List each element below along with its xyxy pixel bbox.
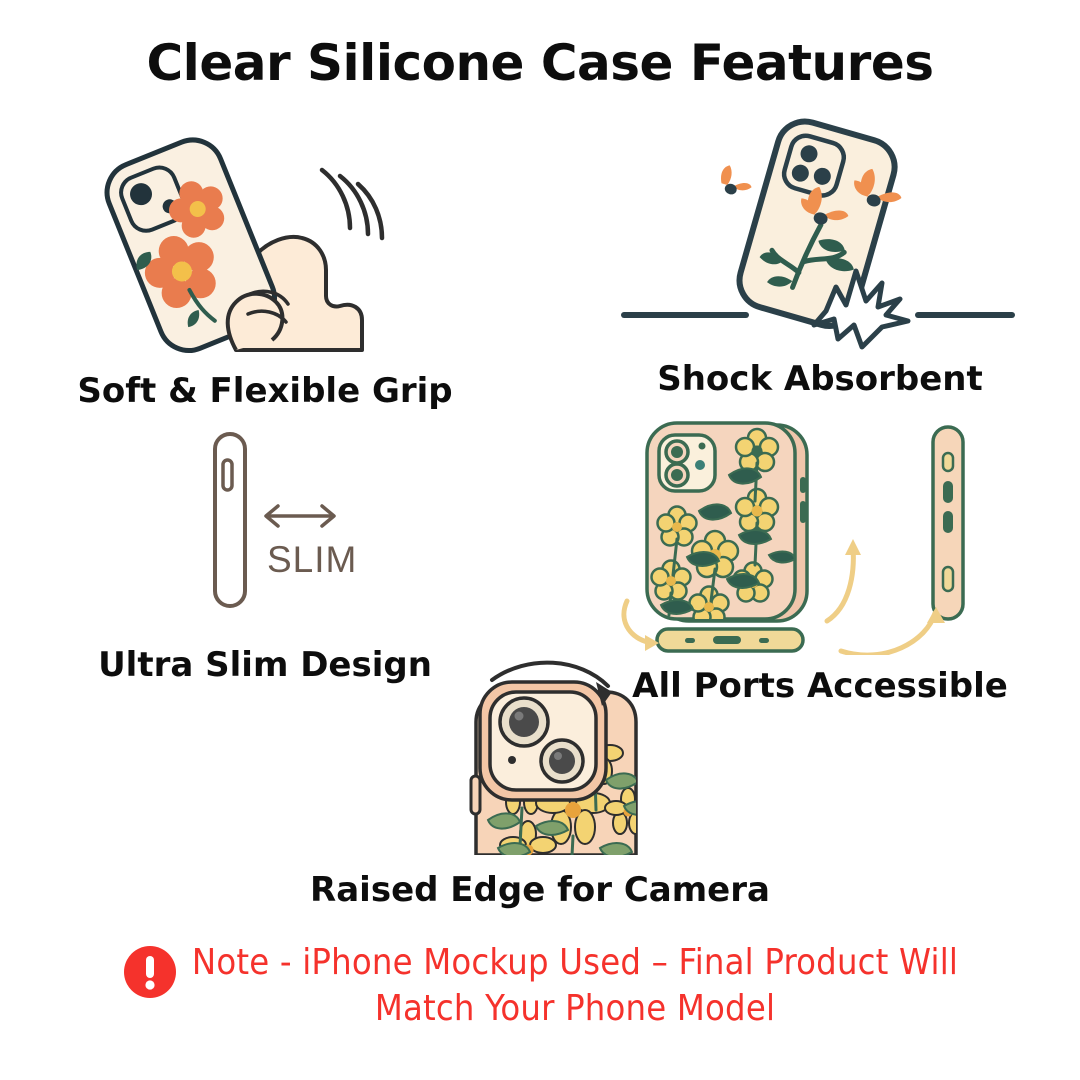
feature-soft-flexible-grip: Soft & Flexible Grip — [40, 118, 490, 411]
phone-back-side-bottom-ports-icon — [605, 415, 1035, 660]
note-banner: Note - iPhone Mockup Used – Final Produc… — [0, 940, 1080, 1032]
feature-caption: Raised Edge for Camera — [290, 870, 790, 910]
note-line-1: Note - iPhone Mockup Used – Final Produc… — [192, 940, 958, 986]
infographic-page: Clear Silicone Case Features — [0, 0, 1080, 1080]
feature-shock-absorbent: Shock Absorbent — [600, 115, 1040, 399]
phone-dropping-impact-icon — [600, 115, 1040, 355]
note-line-2: Match Your Phone Model — [192, 986, 958, 1032]
hand-flexing-phone-case-icon — [40, 118, 490, 363]
slim-annotation-text: SLIM — [267, 539, 357, 580]
page-title: Clear Silicone Case Features — [0, 34, 1080, 92]
feature-ultra-slim-design: SLIM SLIM Ultra Slim Design — [60, 420, 470, 685]
exclamation-circle-icon — [122, 944, 178, 1000]
phone-camera-bump-icon — [290, 660, 790, 860]
feature-caption: Shock Absorbent — [600, 359, 1040, 399]
note-text: Note - iPhone Mockup Used – Final Produc… — [192, 940, 958, 1032]
feature-caption: Soft & Flexible Grip — [40, 371, 490, 411]
feature-raised-edge-camera: Raised Edge for Camera — [290, 660, 790, 910]
phone-side-profile-slim-icon: SLIM SLIM — [60, 420, 470, 625]
